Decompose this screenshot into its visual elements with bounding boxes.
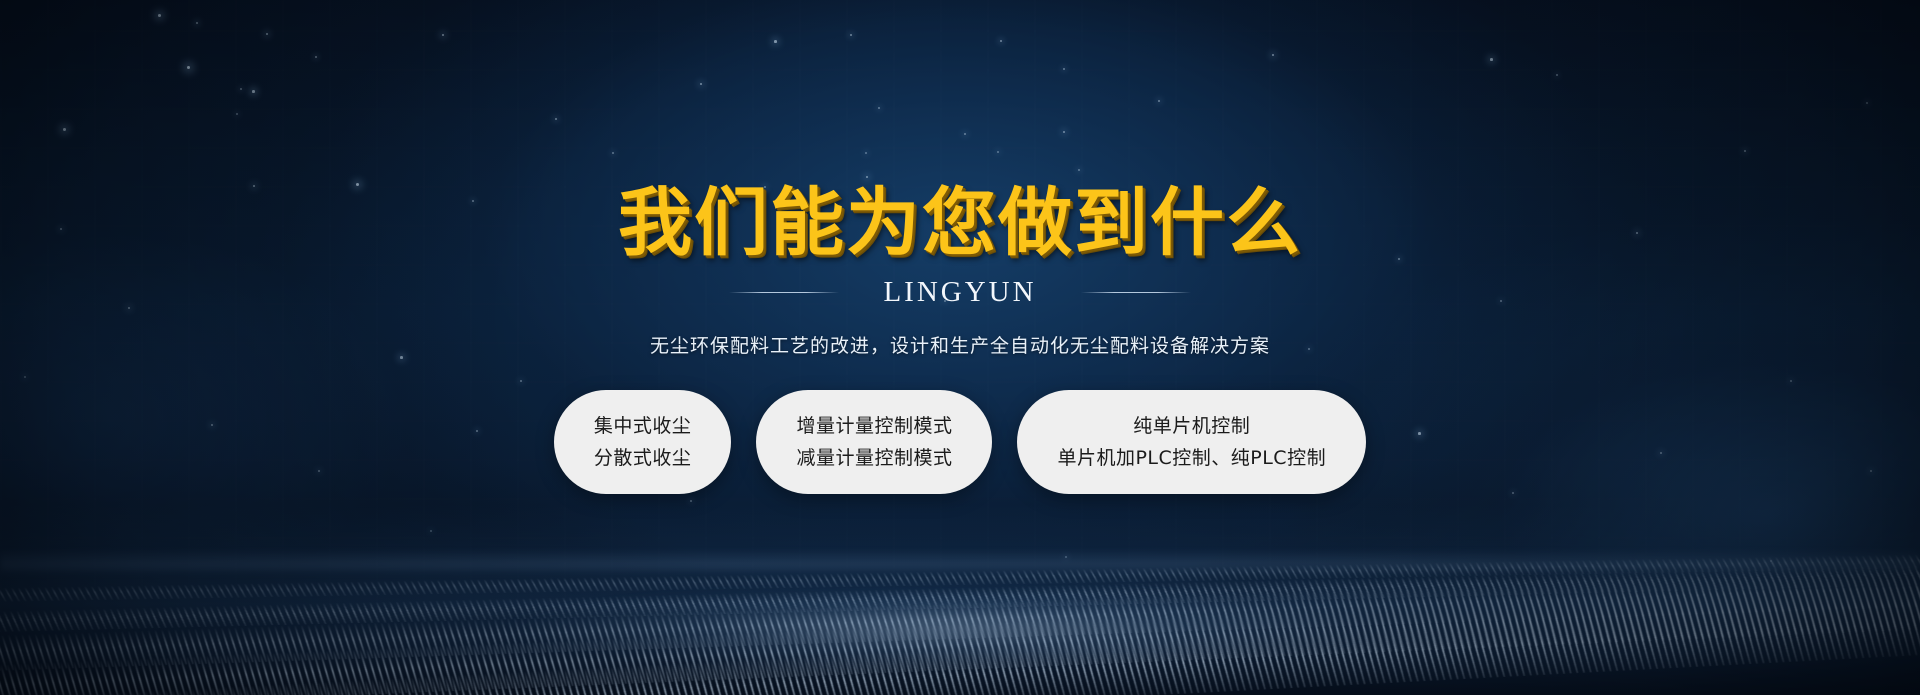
pill-line-primary: 增量计量控制模式 (796, 417, 952, 436)
hero-content: 我们能为您做到什么 LINGYUN 无尘环保配料工艺的改进，设计和生产全自动化无… (0, 0, 1920, 695)
divider-line-right (1081, 292, 1191, 293)
hero-banner: 我们能为您做到什么 LINGYUN 无尘环保配料工艺的改进，设计和生产全自动化无… (0, 0, 1920, 695)
brand-name: LINGYUN (883, 276, 1036, 309)
pill-line-secondary: 单片机加PLC控制、纯PLC控制 (1057, 449, 1326, 468)
pill-line-secondary: 减量计量控制模式 (796, 449, 952, 468)
feature-pill-row: 集中式收尘 分散式收尘 增量计量控制模式 减量计量控制模式 纯单片机控制 单片机… (554, 390, 1366, 494)
feature-pill-metering-mode[interactable]: 增量计量控制模式 减量计量控制模式 (756, 390, 992, 494)
pill-line-primary: 集中式收尘 (594, 417, 692, 436)
pill-line-secondary: 分散式收尘 (594, 449, 692, 468)
page-subtitle: 无尘环保配料工艺的改进，设计和生产全自动化无尘配料设备解决方案 (650, 331, 1270, 358)
divider-line-left (729, 292, 839, 293)
pill-line-primary: 纯单片机控制 (1133, 417, 1250, 436)
page-title: 我们能为您做到什么 (618, 186, 1302, 260)
feature-pill-control-system[interactable]: 纯单片机控制 单片机加PLC控制、纯PLC控制 (1017, 390, 1366, 494)
eyebrow-row: LINGYUN (729, 276, 1190, 309)
feature-pill-dust-collection[interactable]: 集中式收尘 分散式收尘 (554, 390, 732, 494)
